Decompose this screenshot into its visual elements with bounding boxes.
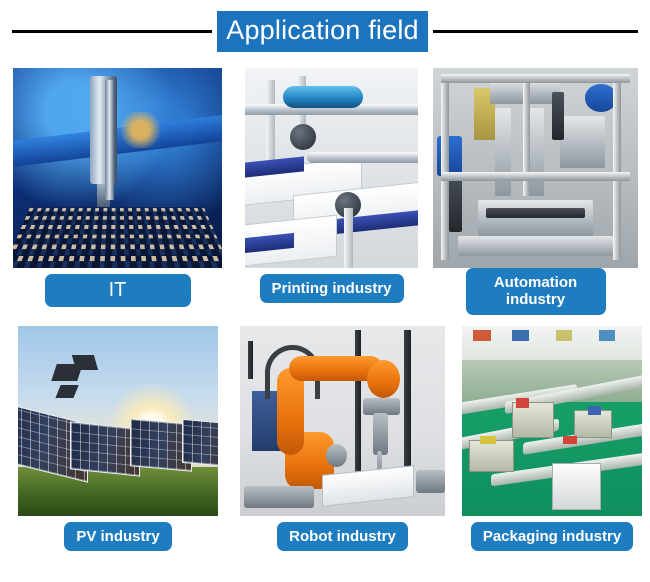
pill-packaging[interactable]: Packaging industry [471,522,633,551]
photo-it [13,68,222,268]
label-wrap-packaging: Packaging industry [462,522,642,551]
card-it[interactable]: IT [13,62,222,320]
header-rule-left [12,30,212,33]
label-wrap-robot: Robot industry [240,522,445,551]
card-printing[interactable]: Printing industry [245,62,418,320]
card-automation[interactable]: Automation industry [433,62,638,320]
pill-pv[interactable]: PV industry [64,522,171,551]
photo-packaging [462,326,642,516]
card-packaging[interactable]: Packaging industry [462,320,642,578]
pill-printing[interactable]: Printing industry [260,274,404,303]
pill-automation[interactable]: Automation industry [466,268,606,315]
label-wrap-printing: Printing industry [245,274,418,303]
label-wrap-automation: Automation industry [433,268,638,315]
photo-robot [240,326,445,516]
page-header: Application field [0,0,650,62]
label-wrap-it: IT [13,274,222,307]
label-wrap-pv: PV industry [18,522,218,551]
pill-it[interactable]: IT [45,274,191,307]
page-title: Application field [217,11,428,52]
grid-row-2: PV industry [0,320,650,578]
header-rule-right [433,30,638,33]
application-field-grid: IT [0,62,650,582]
grid-row-1: IT [0,62,650,320]
photo-automation [433,68,638,268]
card-robot[interactable]: Robot industry [240,320,445,578]
photo-pv [18,326,218,516]
card-pv[interactable]: PV industry [18,320,218,578]
photo-printing [245,68,418,268]
pill-robot[interactable]: Robot industry [277,522,408,551]
